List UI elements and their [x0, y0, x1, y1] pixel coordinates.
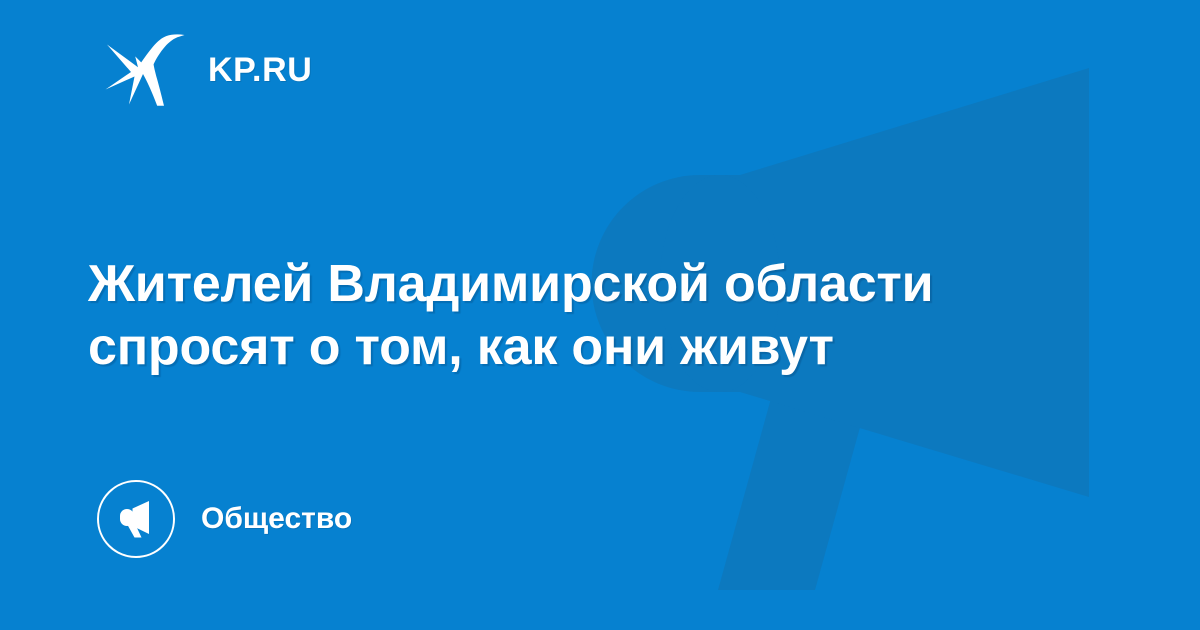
megaphone-icon: [115, 498, 157, 540]
headline: Жителей Владимирской области спросят о т…: [88, 253, 1048, 380]
social-share-card: KP.RU Жителей Владимирской области спрос…: [0, 0, 1200, 630]
category-icon-circle: [97, 480, 175, 558]
swallow-bird-icon: [104, 34, 186, 106]
brand-logo[interactable]: KP.RU: [104, 34, 312, 106]
category-label: Общество: [201, 504, 352, 534]
category-badge[interactable]: Общество: [97, 480, 352, 558]
headline-line-2: спросят о том, как они живут: [88, 316, 1048, 379]
brand-name: KP.RU: [208, 53, 312, 87]
headline-line-1: Жителей Владимирской области: [88, 253, 1048, 316]
